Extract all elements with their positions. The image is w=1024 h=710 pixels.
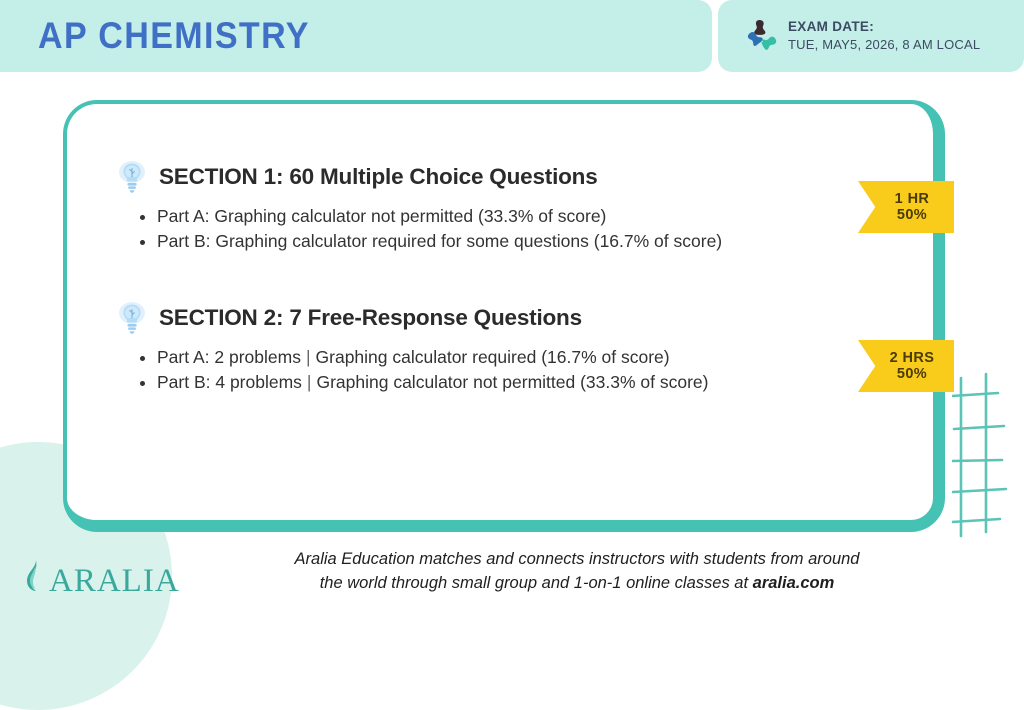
footer-tagline: Aralia Education matches and connects in… <box>170 548 984 596</box>
footer: ARALIA Aralia Education matches and conn… <box>0 536 1024 614</box>
badge-weight: 50% <box>885 366 927 382</box>
footer-line-1: Aralia Education matches and connects in… <box>295 550 860 568</box>
exam-date-value: TUE, MAY5, 2026, 8 AM LOCAL <box>788 36 980 54</box>
bullet-rest: Graphing calculator required (16.7% of s… <box>316 347 670 367</box>
section-2-bullets: Part A: 2 problems|Graphing calculator r… <box>135 345 863 394</box>
lightbulb-icon <box>117 301 149 335</box>
leaf-flame-icon <box>22 558 48 598</box>
section-2-header: SECTION 2: 7 Free-Response Questions <box>117 301 863 335</box>
section-2: SECTION 2: 7 Free-Response Questions Par… <box>117 301 863 394</box>
aralia-website-link[interactable]: aralia.com <box>753 574 835 592</box>
bullet-lead: Part B: Graphing calculator required for… <box>157 231 722 251</box>
aralia-logo: ARALIA <box>22 558 180 598</box>
section-1-bullets: Part A: Graphing calculator not permitte… <box>135 204 863 253</box>
exam-date-banner: EXAM DATE: TUE, MAY5, 2026, 8 AM LOCAL <box>718 0 1024 72</box>
bullet-lead: Part A: 2 problems <box>157 347 301 367</box>
list-item: Part B: 4 problems|Graphing calculator n… <box>157 370 797 394</box>
bullet-rest: Graphing calculator not permitted (33.3%… <box>316 372 708 392</box>
badge-weight: 50% <box>885 207 927 223</box>
bullet-separator: | <box>301 345 316 369</box>
infographic-page: AP CHEMISTRY EXAM DATE: TUE, MAY5, 2026,… <box>0 0 1024 614</box>
lightbulb-icon <box>117 160 149 194</box>
footer-line-2-prefix: the world through small group and 1-on-1… <box>320 574 753 592</box>
header-banner: AP CHEMISTRY <box>0 0 712 72</box>
badge-duration: 1 HR <box>883 191 930 207</box>
exam-date-label: EXAM DATE: <box>788 18 980 36</box>
aralia-logo-text: ARALIA <box>49 565 180 598</box>
bullet-lead: Part A: Graphing calculator not permitte… <box>157 206 606 226</box>
section-2-title: SECTION 2: 7 Free-Response Questions <box>159 305 582 331</box>
section-1-title: SECTION 1: 60 Multiple Choice Questions <box>159 164 598 190</box>
badge-duration: 2 HRS <box>878 350 935 366</box>
pushpin-icon <box>738 16 782 56</box>
list-item: Part B: Graphing calculator required for… <box>157 229 797 253</box>
section-1: SECTION 1: 60 Multiple Choice Questions … <box>117 160 863 253</box>
list-item: Part A: Graphing calculator not permitte… <box>157 204 797 228</box>
list-item: Part A: 2 problems|Graphing calculator r… <box>157 345 797 369</box>
page-title: AP CHEMISTRY <box>38 15 310 57</box>
bullet-separator: | <box>302 370 317 394</box>
bullet-lead: Part B: 4 problems <box>157 372 302 392</box>
section-1-header: SECTION 1: 60 Multiple Choice Questions <box>117 160 863 194</box>
grid-doodle-icon <box>952 372 1024 542</box>
sections-card: SECTION 1: 60 Multiple Choice Questions … <box>63 100 945 532</box>
